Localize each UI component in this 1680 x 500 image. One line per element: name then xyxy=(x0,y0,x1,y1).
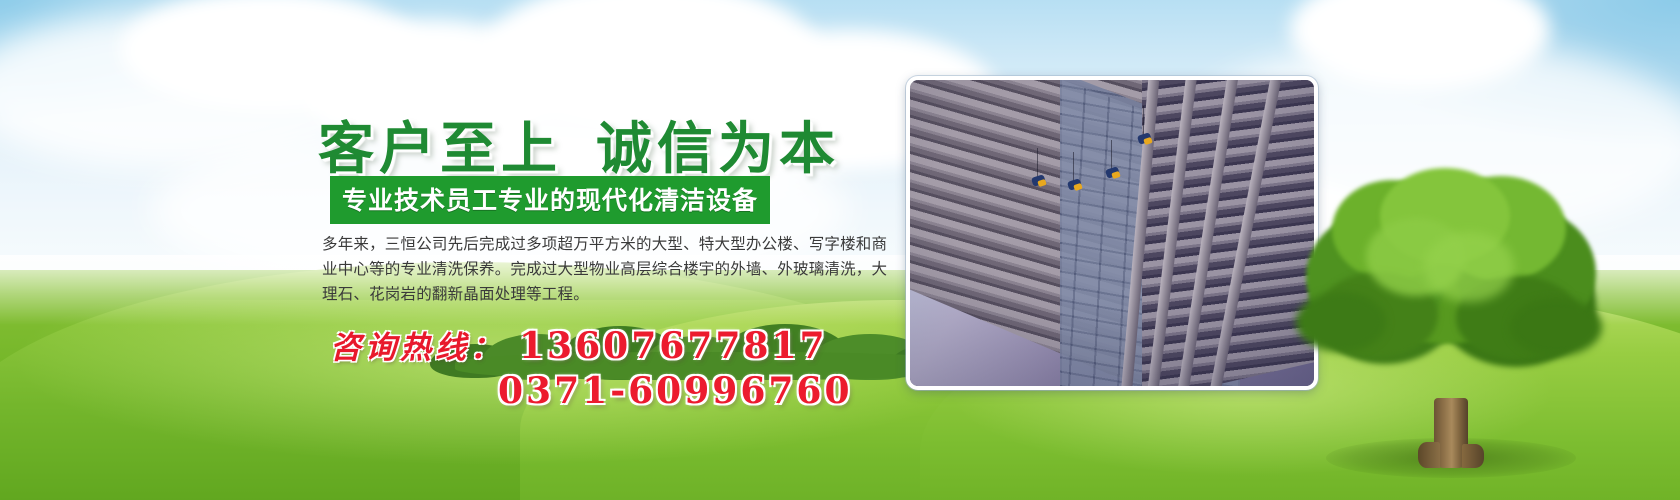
headline: 客户至上诚信为本 xyxy=(318,104,840,185)
description-paragraph: 多年来，三恒公司先后完成过多项超万平方米的大型、特大型办公楼、写字楼和商业中心等… xyxy=(322,232,890,307)
subtitle-text: 专业技术员工专业的现代化清洁设备 xyxy=(342,186,758,215)
subtitle-bar: 专业技术员工专业的现代化清洁设备 xyxy=(330,176,770,224)
promo-banner: 客户至上诚信为本 专业技术员工专业的现代化清洁设备 多年来，三恒公司先后完成过多… xyxy=(0,0,1680,500)
contact-mobile[interactable]: 13607677817 xyxy=(519,325,828,367)
contact-label: 咨询热线： xyxy=(330,330,505,366)
headline-part-2: 诚信为本 xyxy=(596,116,840,182)
banner-content: 客户至上诚信为本 专业技术员工专业的现代化清洁设备 多年来，三恒公司先后完成过多… xyxy=(0,0,1680,500)
contact-line-primary: 咨询热线：13607677817 xyxy=(330,322,828,367)
headline-part-1: 客户至上 xyxy=(318,116,562,182)
contact-landline[interactable]: 0371-60996760 xyxy=(498,370,853,412)
contact-line-secondary: 0371-60996760 xyxy=(498,370,853,412)
